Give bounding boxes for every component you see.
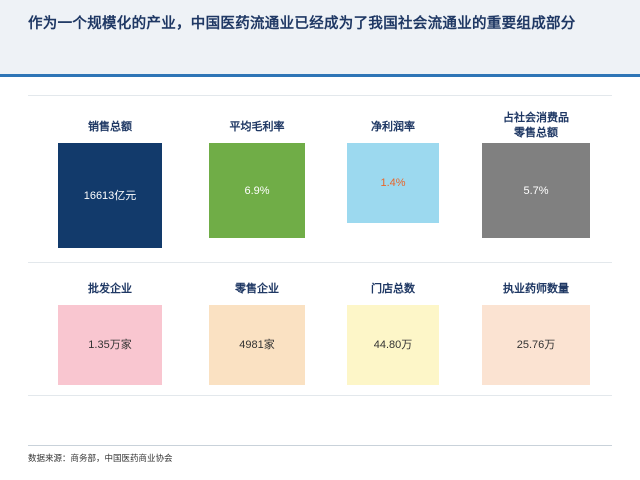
divider-top [28, 95, 612, 96]
page-title: 作为一个规模化的产业，中国医药流通业已经成为了我国社会流通业的重要组成部分 [28, 12, 618, 36]
metric-cell[interactable]: 平均毛利率 6.9% [209, 120, 305, 250]
metric-value: 5.7% [523, 184, 548, 198]
metric-bar: 44.80万 [347, 305, 439, 385]
metric-bar: 4981家 [209, 305, 305, 385]
metric-value: 1.35万家 [88, 338, 131, 352]
slide-header: 作为一个规模化的产业，中国医药流通业已经成为了我国社会流通业的重要组成部分 [0, 0, 640, 74]
metric-bar: 1.35万家 [58, 305, 162, 385]
metric-bar: 25.76万 [482, 305, 590, 385]
source-note: 数据来源：商务部，中国医药商业协会 [28, 452, 173, 464]
metric-value: 44.80万 [374, 338, 413, 352]
metric-label: 批发企业 [58, 282, 162, 297]
metric-value: 25.76万 [517, 338, 556, 352]
metric-cell[interactable]: 净利润率 1.4% [347, 120, 439, 250]
metric-value: 6.9% [244, 184, 269, 198]
metric-value: 16613亿元 [84, 189, 137, 203]
metric-cell[interactable]: 零售企业 4981家 [209, 282, 305, 387]
metric-bar: 5.7% [482, 143, 590, 238]
divider-bottom [28, 395, 612, 396]
metric-bar: 6.9% [209, 143, 305, 238]
divider-middle [28, 262, 612, 263]
metric-label: 净利润率 [347, 120, 439, 135]
metric-value: 4981家 [239, 338, 274, 352]
metric-label: 执业药师数量 [482, 282, 590, 297]
footer-divider [28, 445, 612, 446]
metric-label: 占社会消费品 零售总额 [482, 111, 590, 141]
metric-cell[interactable]: 门店总数 44.80万 [347, 282, 439, 387]
metric-label: 门店总数 [347, 282, 439, 297]
metric-bar: 1.4% [347, 143, 439, 223]
metric-cell[interactable]: 执业药师数量 25.76万 [482, 282, 590, 387]
metric-cell[interactable]: 销售总额 16613亿元 [58, 120, 162, 250]
metric-cell[interactable]: 批发企业 1.35万家 [58, 282, 162, 387]
metric-value: 1.4% [380, 176, 405, 190]
metric-bar: 16613亿元 [58, 143, 162, 248]
metric-label: 零售企业 [209, 282, 305, 297]
metric-label: 销售总额 [58, 120, 162, 135]
metric-label: 平均毛利率 [209, 120, 305, 135]
chart-area: 销售总额 16613亿元 平均毛利率 6.9% 净利润率 1.4% 占社会消费品… [0, 77, 640, 445]
metric-cell[interactable]: 占社会消费品 零售总额 5.7% [482, 111, 590, 251]
slide-footer: 数据来源：商务部，中国医药商业协会 [0, 445, 640, 480]
